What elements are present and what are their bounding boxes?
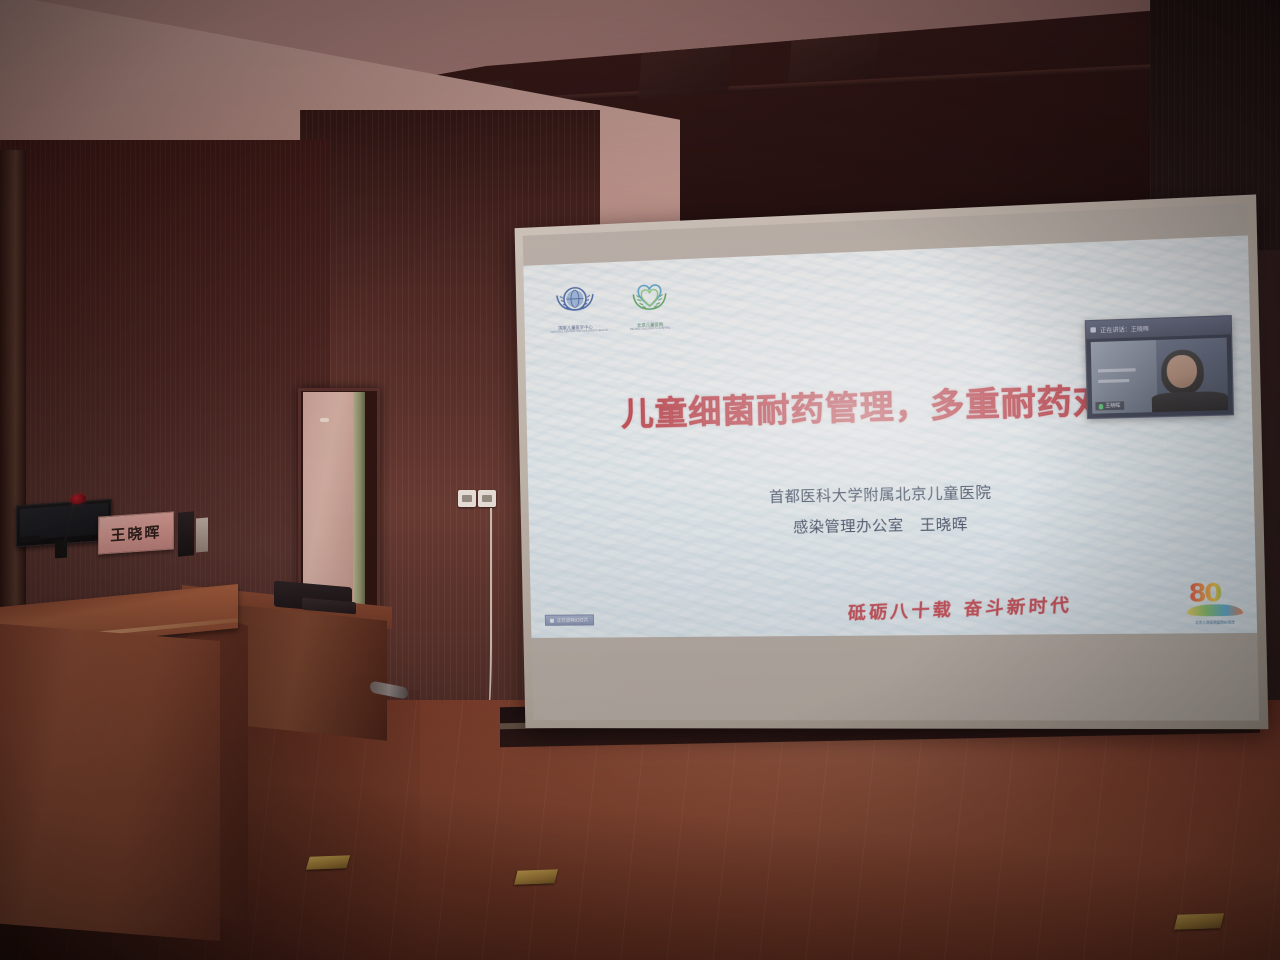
confidence-monitor-screen: [20, 503, 108, 540]
anniversary-number: 80: [1188, 580, 1240, 610]
slide-affiliation: 首都医科大学附属北京儿童医院 感染管理办公室 王晓晖: [528, 473, 1255, 548]
floor-power-box[interactable]: [514, 869, 558, 884]
presentation-slide[interactable]: 国家儿童医学中心 NATIONAL CENTER FOR CHILDREN'S …: [523, 235, 1257, 638]
wall-outlet-socket: [482, 495, 492, 502]
video-call-icon: [1090, 327, 1096, 332]
lectern-front-panel: [0, 623, 220, 941]
logo-beijing-childrens-hospital: 北京儿童医院 BEIJING CHILDREN'S HOSPITAL: [624, 278, 676, 332]
video-background-shelf: [1098, 379, 1129, 383]
auditorium-scene: 国家儿童医学中心 NATIONAL CENTER FOR CHILDREN'S …: [0, 0, 1280, 960]
microphone-icon: [1099, 403, 1104, 408]
video-background-shelf: [1098, 368, 1136, 372]
slide-logo-row: 国家儿童医学中心 NATIONAL CENTER FOR CHILDREN'S …: [550, 278, 676, 335]
video-participant-body: [1151, 391, 1228, 412]
speaker-nameplate-text: 王晓晖: [110, 521, 161, 546]
anniversary-80-logo: 80 北京儿童医院建院80周年: [1184, 580, 1246, 625]
video-call-titlebar[interactable]: 正在讲话：王晓晖: [1086, 316, 1231, 339]
video-call-feed: 王晓晖: [1091, 338, 1229, 414]
podium-lit-edge: [196, 517, 208, 552]
video-call-title: 正在讲话：王晓晖: [1100, 324, 1149, 334]
video-participant-nametag: 王晓晖: [1095, 401, 1123, 410]
podium-side-panel: [178, 511, 194, 556]
lectern[interactable]: [0, 596, 240, 936]
slideshow-status-chip[interactable]: 正在放映幻灯片: [545, 614, 594, 625]
slideshow-icon: [550, 618, 554, 622]
door-handle[interactable]: [320, 418, 329, 422]
anniversary-caption: 北京儿童医院建院80周年: [1185, 619, 1246, 625]
floor-power-box[interactable]: [1174, 913, 1224, 930]
power-cable: [478, 508, 492, 726]
logo-national-childrens-medical-center: 国家儿童医学中心 NATIONAL CENTER FOR CHILDREN'S …: [550, 281, 601, 334]
wall-outlet-socket: [462, 495, 472, 502]
slideshow-status-label: 正在放映幻灯片: [557, 617, 589, 623]
projection-screen[interactable]: 国家儿童医学中心 NATIONAL CENTER FOR CHILDREN'S …: [515, 194, 1269, 729]
logo-subcaption: BEIJING CHILDREN'S HOSPITAL: [625, 327, 676, 332]
logo-subcaption: NATIONAL CENTER FOR CHILDREN'S HEALTH: [551, 329, 601, 334]
banner-calligraphy-text: 砥砺八十载 奋斗新时代: [847, 590, 1073, 624]
slide-bottom-banner: 砥砺八十载 奋斗新时代 80 北京儿童医院建院80周年: [530, 577, 1257, 632]
floor-power-box[interactable]: [306, 855, 350, 869]
heart-wreath-icon: [624, 278, 676, 322]
video-call-window[interactable]: 正在讲话：王晓晖 王晓晖: [1085, 315, 1234, 419]
globe-wreath-icon: [550, 281, 601, 325]
projection-screen-surface: 国家儿童医学中心 NATIONAL CENTER FOR CHILDREN'S …: [523, 203, 1259, 720]
speaker-nameplate: 王晓晖: [98, 511, 174, 554]
video-participant-name: 王晓晖: [1105, 402, 1120, 409]
